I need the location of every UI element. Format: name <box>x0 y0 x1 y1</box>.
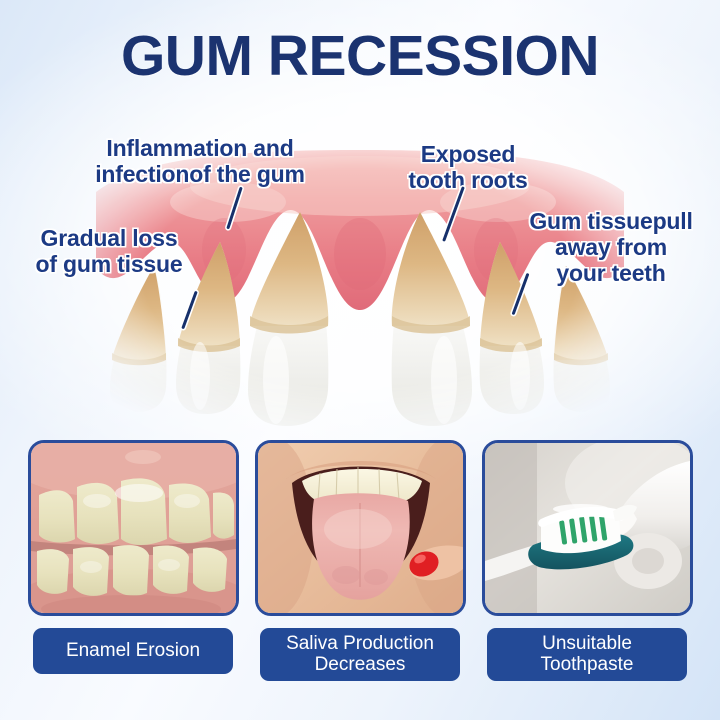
callout-inflammation-line2: infectionof the gum <box>74 162 326 188</box>
cause-card-enamel-erosion[interactable]: Enamel Erosion <box>31 440 236 700</box>
callout-exposed-line1: Exposed <box>398 142 538 168</box>
page-title: GUM RECESSION <box>0 28 720 85</box>
mouth-tongue-photo <box>255 440 466 616</box>
infographic-poster: GUM RECESSION <box>0 0 720 720</box>
callout-pullaway-line1: Gum tissuepull <box>512 209 710 235</box>
caption-text-line1: Unsuitable <box>542 633 632 654</box>
toothbrush-toothpaste-photo <box>482 440 693 616</box>
card-caption-enamel-erosion: Enamel Erosion <box>33 628 233 674</box>
cause-card-saliva-production[interactable]: Saliva Production Decreases <box>258 440 463 700</box>
card-caption-saliva-production: Saliva Production Decreases <box>260 628 460 681</box>
callout-gradual-loss: Gradual loss of gum tissue <box>14 226 204 278</box>
callout-inflammation: Inflammation and infectionof the gum <box>74 136 326 188</box>
callout-exposed-line2: tooth roots <box>398 168 538 194</box>
callout-gum-pull-away: Gum tissuepull away from your teeth <box>512 209 710 286</box>
callout-exposed-roots: Exposed tooth roots <box>398 142 538 194</box>
caption-text-line1: Saliva Production <box>286 633 434 654</box>
caption-text-line2: Decreases <box>315 654 406 675</box>
callout-gradual-line2: of gum tissue <box>14 252 204 278</box>
callout-pullaway-line3: your teeth <box>512 261 710 287</box>
caption-text: Enamel Erosion <box>66 640 200 661</box>
callout-inflammation-line1: Inflammation and <box>74 136 326 162</box>
cause-card-unsuitable-toothpaste[interactable]: Unsuitable Toothpaste <box>485 440 690 700</box>
caption-text-line2: Toothpaste <box>541 654 634 675</box>
receding-gums-illustration <box>78 150 642 435</box>
clinical-teeth-gums-photo <box>28 440 239 616</box>
card-caption-unsuitable-toothpaste: Unsuitable Toothpaste <box>487 628 687 681</box>
callout-pullaway-line2: away from <box>512 235 710 261</box>
cause-cards: Enamel Erosion <box>0 440 720 700</box>
callout-gradual-line1: Gradual loss <box>14 226 204 252</box>
